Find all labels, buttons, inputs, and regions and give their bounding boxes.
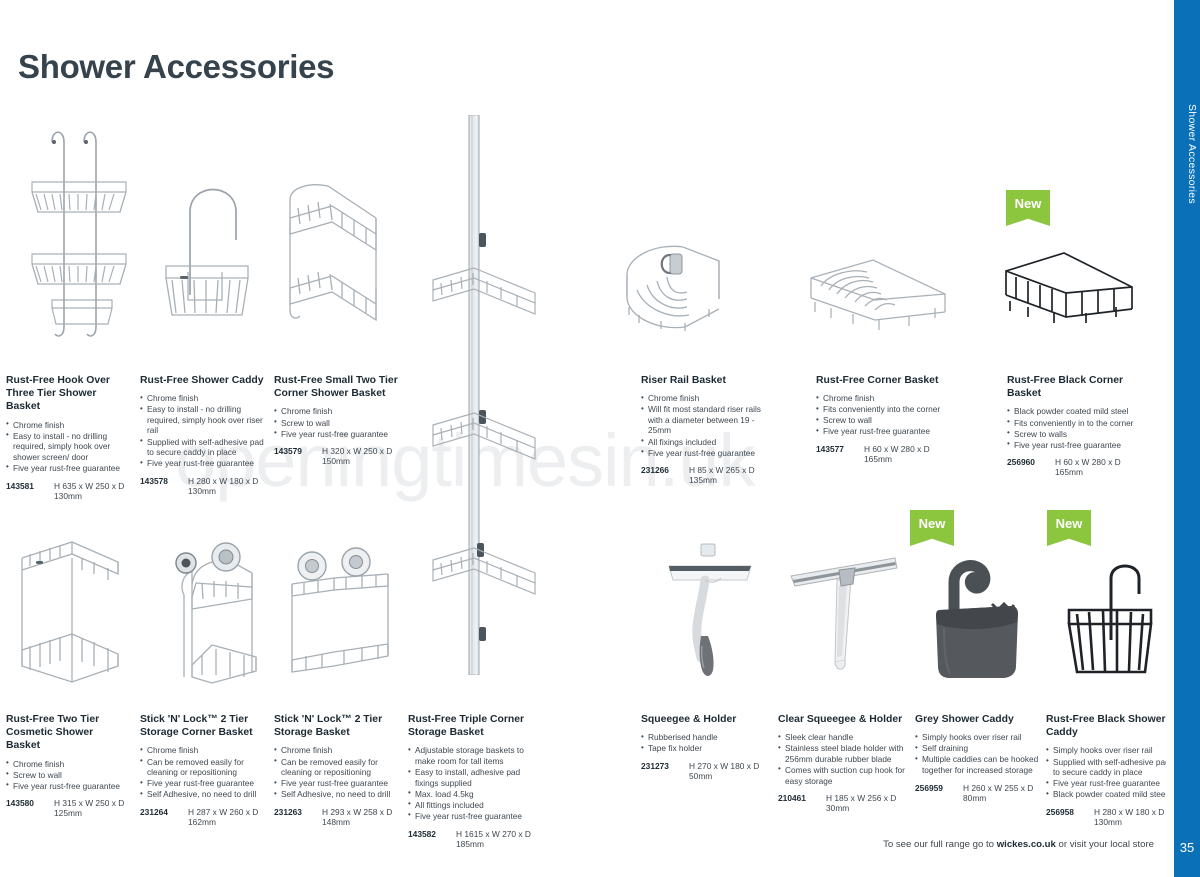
feature-item: Five year rust-free guarantee (408, 811, 542, 822)
feature-item: Tape fix holder (641, 743, 773, 754)
product-code-row: 143580 H 315 x W 250 x D 125mm (6, 798, 130, 818)
feature-item: Easy to install - no drilling required, … (6, 431, 130, 463)
product-features: Chrome finish Can be removed easily for … (274, 745, 398, 799)
product-features: Chrome finish Easy to install - no drill… (140, 393, 264, 469)
footer-brand: wickes.co.uk (997, 839, 1056, 850)
feature-item: Five year rust-free guarantee (140, 458, 264, 469)
feature-item: Five year rust-free guarantee (1007, 440, 1139, 451)
product-name: Rust-Free Small Two Tier Corner Shower B… (274, 374, 398, 400)
feature-item: Five year rust-free guarantee (6, 463, 130, 474)
product-name: Rust-Free Black Corner Basket (1007, 374, 1139, 400)
product-block-143578: Rust-Free Shower Caddy Chrome finish Eas… (140, 374, 264, 496)
side-tab: Shower Accessories 35 (1174, 0, 1200, 877)
product-code-row: 143579 H 320 x W 250 x D 150mm (274, 446, 398, 466)
feature-item: Easy to install - no drilling required, … (140, 404, 264, 436)
product-dimensions: H 287 x W 260 x D 162mm (188, 807, 264, 827)
product-dimensions: H 60 x W 280 x D 165mm (1055, 457, 1139, 477)
product-image-black-caddy (1055, 548, 1165, 688)
product-code: 256960 (1007, 457, 1047, 467)
product-name: Riser Rail Basket (641, 374, 773, 387)
feature-item: All fixings included (641, 437, 773, 448)
product-name: Grey Shower Caddy (915, 713, 1047, 726)
feature-item: Five year rust-free guarantee (140, 778, 264, 789)
product-name: Stick 'N' Lock™ 2 Tier Storage Corner Ba… (140, 713, 264, 739)
product-block-143577: Rust-Free Corner Basket Chrome finish Fi… (816, 374, 948, 464)
product-features: Simply hooks over riser rail Supplied wi… (1046, 745, 1178, 799)
side-tab-gap (1166, 0, 1174, 877)
feature-item: Chrome finish (274, 745, 398, 756)
product-features: Black powder coated mild steel Fits conv… (1007, 406, 1139, 450)
page-title: Shower Accessories (18, 48, 334, 86)
catalogue-page: openingtimesin.uk Shower Accessories (0, 0, 1200, 877)
feature-item: Rubberised handle (641, 732, 773, 743)
product-dimensions: H 280 x W 180 x D 130mm (188, 476, 264, 496)
product-code-row: 256958 H 280 x W 180 x D 130mm (1046, 807, 1178, 827)
product-name: Rust-Free Black Shower Caddy (1046, 713, 1178, 739)
product-code: 143578 (140, 476, 180, 486)
product-image-black-corner-basket (1000, 245, 1140, 335)
product-image-two-tier-cosmetic (14, 530, 124, 685)
product-code: 231264 (140, 807, 180, 817)
product-code: 231263 (274, 807, 314, 817)
feature-item: Five year rust-free guarantee (1046, 778, 1178, 789)
feature-item: Five year rust-free guarantee (816, 426, 948, 437)
new-badge-black-caddy: New (1047, 510, 1091, 546)
product-code-row: 231266 H 85 x W 265 x D 135mm (641, 465, 773, 485)
product-code-row: 143578 H 280 x W 180 x D 130mm (140, 476, 264, 496)
product-image-hook-over-three-tier (14, 112, 134, 357)
product-image-shower-caddy (152, 160, 260, 335)
product-code-row: 256960 H 60 x W 280 x D 165mm (1007, 457, 1139, 477)
product-dimensions: H 60 x W 280 x D 165mm (864, 444, 948, 464)
feature-item: Supplied with self-adhesive pad to secur… (1046, 757, 1178, 778)
feature-item: Can be removed easily for cleaning or re… (274, 757, 398, 778)
feature-item: Multiple caddies can be hooked together … (915, 754, 1047, 775)
product-name: Clear Squeegee & Holder (778, 713, 910, 726)
feature-item: Adjustable storage baskets to make room … (408, 745, 542, 766)
feature-item: Screw to wall (6, 770, 130, 781)
product-name: Rust-Free Two Tier Cosmetic Shower Baske… (6, 713, 130, 753)
product-code-row: 143582 H 1615 x W 270 x D 185mm (408, 829, 542, 849)
product-block-210461: Clear Squeegee & Holder Sleek clear hand… (778, 713, 910, 813)
feature-item: Simply hooks over riser rail (915, 732, 1047, 743)
product-features: Chrome finish Will fit most standard ris… (641, 393, 773, 458)
feature-item: Chrome finish (816, 393, 948, 404)
product-block-231263: Stick 'N' Lock™ 2 Tier Storage Basket Ch… (274, 713, 398, 827)
product-image-stick-n-lock-corner (152, 525, 267, 690)
feature-item: Screw to walls (1007, 429, 1139, 440)
product-image-triple-corner-pole (425, 115, 545, 675)
product-code-row: 210461 H 185 x W 256 x D 30mm (778, 793, 910, 813)
product-image-riser-rail-basket (615, 235, 745, 345)
feature-item: Supplied with self-adhesive pad to secur… (140, 437, 264, 458)
product-code: 256959 (915, 783, 955, 793)
feature-item: Comes with suction cup hook for easy sto… (778, 765, 910, 786)
feature-item: Fits conveniently in to the corner (1007, 418, 1139, 429)
product-features: Rubberised handle Tape fix holder (641, 732, 773, 754)
product-block-256958: Rust-Free Black Shower Caddy Simply hook… (1046, 713, 1178, 827)
product-name: Rust-Free Corner Basket (816, 374, 948, 387)
product-block-143581: Rust-Free Hook Over Three Tier Shower Ba… (6, 374, 130, 501)
product-code: 231273 (641, 761, 681, 771)
product-dimensions: H 85 x W 265 x D 135mm (689, 465, 773, 485)
feature-item: Can be removed easily for cleaning or re… (140, 757, 264, 778)
product-block-256960: Rust-Free Black Corner Basket Black powd… (1007, 374, 1139, 477)
product-code: 143577 (816, 444, 856, 454)
product-dimensions: H 1615 x W 270 x D 185mm (456, 829, 542, 849)
side-tab-label: Shower Accessories (1176, 104, 1198, 204)
feature-item: Chrome finish (6, 759, 130, 770)
footer-note: To see our full range go to wickes.co.uk… (883, 839, 1154, 850)
new-badge-grey-caddy: New (910, 510, 954, 546)
product-code-row: 143577 H 60 x W 280 x D 165mm (816, 444, 948, 464)
feature-item: Stainless steel blade holder with 256mm … (778, 743, 910, 764)
feature-item: Self Adhesive, no need to drill (274, 789, 398, 800)
product-block-231273: Squeegee & Holder Rubberised handle Tape… (641, 713, 773, 781)
product-features: Chrome finish Easy to install - no drill… (6, 420, 130, 474)
product-code-row: 256959 H 260 x W 255 x D 80mm (915, 783, 1047, 803)
product-block-231266: Riser Rail Basket Chrome finish Will fit… (641, 374, 773, 485)
feature-item: Max. load 4.5kg (408, 789, 542, 800)
product-name: Rust-Free Shower Caddy (140, 374, 264, 387)
product-code: 210461 (778, 793, 818, 803)
product-features: Chrome finish Can be removed easily for … (140, 745, 264, 799)
product-features: Simply hooks over riser rail Self draini… (915, 732, 1047, 775)
product-features: Chrome finish Screw to wall Five year ru… (6, 759, 130, 792)
feature-item: Five year rust-free guarantee (274, 429, 398, 440)
feature-item: Self Adhesive, no need to drill (140, 789, 264, 800)
feature-item: Screw to wall (274, 418, 398, 429)
product-dimensions: H 315 x W 250 x D 125mm (54, 798, 130, 818)
product-code: 143582 (408, 829, 448, 839)
product-block-143579: Rust-Free Small Two Tier Corner Shower B… (274, 374, 398, 466)
product-features: Chrome finish Screw to wall Five year ru… (274, 406, 398, 439)
product-image-squeegee (655, 540, 765, 685)
feature-item: Chrome finish (140, 393, 264, 404)
feature-item: Will fit most standard riser rails with … (641, 404, 773, 436)
feature-item: All fittings included (408, 800, 542, 811)
feature-item: Easy to install, adhesive pad fixings su… (408, 767, 542, 788)
product-dimensions: H 185 x W 256 x D 30mm (826, 793, 910, 813)
product-image-clear-squeegee (785, 540, 905, 685)
product-code: 143580 (6, 798, 46, 808)
product-dimensions: H 320 x W 250 x D 150mm (322, 446, 398, 466)
product-image-grey-caddy (920, 548, 1030, 688)
product-code-row: 143581 H 635 x W 250 x D 130mm (6, 481, 130, 501)
product-features: Adjustable storage baskets to make room … (408, 745, 542, 821)
feature-item: Self draining (915, 743, 1047, 754)
product-name: Rust-Free Hook Over Three Tier Shower Ba… (6, 374, 130, 414)
product-block-231264: Stick 'N' Lock™ 2 Tier Storage Corner Ba… (140, 713, 264, 827)
feature-item: Chrome finish (6, 420, 130, 431)
feature-item: Chrome finish (641, 393, 773, 404)
feature-item: Simply hooks over riser rail (1046, 745, 1178, 756)
product-block-143580: Rust-Free Two Tier Cosmetic Shower Baske… (6, 713, 130, 818)
footer-text-before: To see our full range go to (883, 839, 997, 850)
page-number: 35 (1176, 840, 1198, 855)
product-image-corner-basket (805, 250, 955, 340)
footer-text-after: or visit your local store (1056, 839, 1154, 850)
product-name: Stick 'N' Lock™ 2 Tier Storage Basket (274, 713, 398, 739)
feature-item: Chrome finish (140, 745, 264, 756)
product-dimensions: H 260 x W 255 x D 80mm (963, 783, 1047, 803)
feature-item: Five year rust-free guarantee (274, 778, 398, 789)
feature-item: Five year rust-free guarantee (6, 781, 130, 792)
feature-item: Screw to wall (816, 415, 948, 426)
product-name: Squeegee & Holder (641, 713, 773, 726)
product-dimensions: H 270 x W 180 x D 50mm (689, 761, 773, 781)
product-block-256959: Grey Shower Caddy Simply hooks over rise… (915, 713, 1047, 803)
product-dimensions: H 635 x W 250 x D 130mm (54, 481, 130, 501)
product-image-stick-n-lock-storage (282, 540, 397, 685)
product-block-143582: Rust-Free Triple Corner Storage Basket A… (408, 713, 542, 849)
product-code-row: 231264 H 287 x W 260 x D 162mm (140, 807, 264, 827)
feature-item: Sleek clear handle (778, 732, 910, 743)
product-code: 143579 (274, 446, 314, 456)
feature-item: Fits conveniently into the corner (816, 404, 948, 415)
feature-item: Black powder coated mild steel (1007, 406, 1139, 417)
product-code: 256958 (1046, 807, 1086, 817)
product-code-row: 231263 H 293 x W 258 x D 148mm (274, 807, 398, 827)
product-code: 231266 (641, 465, 681, 475)
product-features: Chrome finish Fits conveniently into the… (816, 393, 948, 437)
product-name: Rust-Free Triple Corner Storage Basket (408, 713, 542, 739)
product-image-small-two-tier-corner (280, 170, 390, 335)
new-badge-black-corner-basket: New (1006, 190, 1050, 226)
product-code-row: 231273 H 270 x W 180 x D 50mm (641, 761, 773, 781)
feature-item: Chrome finish (274, 406, 398, 417)
product-features: Sleek clear handle Stainless steel blade… (778, 732, 910, 786)
product-code: 143581 (6, 481, 46, 491)
feature-item: Five year rust-free guarantee (641, 448, 773, 459)
product-dimensions: H 293 x W 258 x D 148mm (322, 807, 398, 827)
feature-item: Black powder coated mild steel (1046, 789, 1178, 800)
